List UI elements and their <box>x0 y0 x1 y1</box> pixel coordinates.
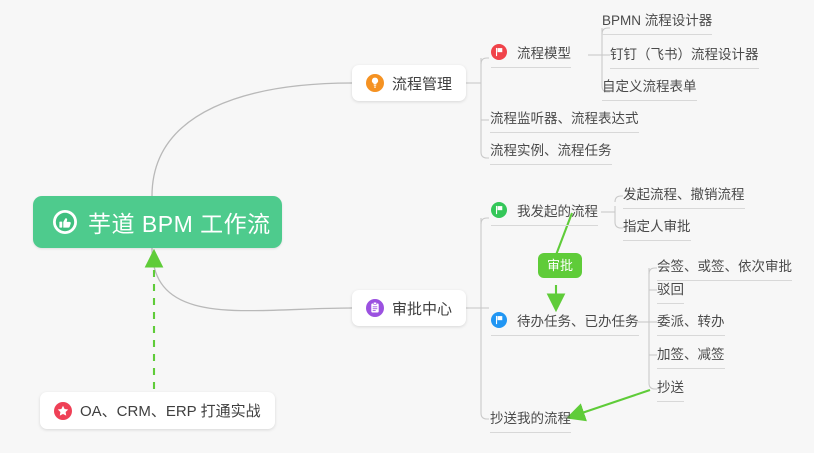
flag-icon-red <box>491 44 509 62</box>
branch-approval-center-label: 审批中心 <box>392 298 452 319</box>
root-node[interactable]: 芋道 BPM 工作流 <box>33 196 282 248</box>
edge-ac-bracket-upper <box>481 218 489 224</box>
branch-process-management-label: 流程管理 <box>392 73 452 94</box>
leaf-add-remove-sign[interactable]: 加签、减签 <box>657 346 725 369</box>
node-todo-done-tasks-label: 待办任务、已办任务 <box>517 313 639 330</box>
lightbulb-icon <box>366 74 384 92</box>
thumbs-up-icon <box>53 210 77 234</box>
leaf-delegate-transfer[interactable]: 委派、转办 <box>657 313 725 336</box>
node-process-model-label: 流程模型 <box>517 45 571 62</box>
callout-node-label: OA、CRM、ERP 打通实战 <box>80 400 261 421</box>
leaf-countersign-orsign-sequential[interactable]: 会签、或签、依次审批 <box>657 258 792 281</box>
annotation-approve-chip: 审批 <box>538 253 582 278</box>
callout-node[interactable]: OA、CRM、ERP 打通实战 <box>40 392 275 429</box>
node-process-model[interactable]: 流程模型 <box>491 44 571 68</box>
node-my-initiated-flows-label: 我发起的流程 <box>517 203 598 220</box>
edge-ac-bracket-lower <box>481 218 489 419</box>
leaf-dingtalk-designer[interactable]: 钉钉（飞书）流程设计器 <box>610 46 759 69</box>
leaf-reject[interactable]: 驳回 <box>657 281 684 304</box>
arrow-cc-to-my-cc-flows <box>570 390 650 417</box>
star-icon <box>54 402 72 420</box>
edge-root-to-approval-center <box>152 248 352 311</box>
mindmap-canvas: 芋道 BPM 工作流 OA、CRM、ERP 打通实战 流程管理 <box>0 0 814 453</box>
leaf-process-listener-expression[interactable]: 流程监听器、流程表达式 <box>490 110 639 133</box>
edge-todo-bracket-upper <box>649 268 657 274</box>
leaf-assignee-approval[interactable]: 指定人审批 <box>623 218 691 241</box>
root-node-label: 芋道 BPM 工作流 <box>88 205 271 239</box>
flag-icon-green <box>491 202 509 220</box>
edge-todo-bracket-lower <box>649 268 657 389</box>
edge-pm-bracket-upper <box>481 58 489 64</box>
leaf-cc[interactable]: 抄送 <box>657 379 684 402</box>
branch-process-management[interactable]: 流程管理 <box>352 65 466 101</box>
edge-root-to-process-management <box>152 83 352 196</box>
edge-mine-bracket-upper <box>615 196 623 202</box>
flag-icon-blue <box>491 312 509 330</box>
node-todo-done-tasks[interactable]: 待办任务、已办任务 <box>491 312 639 336</box>
edge-pm-bracket-lower <box>481 58 489 158</box>
leaf-start-cancel-flow[interactable]: 发起流程、撤销流程 <box>623 186 745 209</box>
leaf-process-instance-task[interactable]: 流程实例、流程任务 <box>490 142 612 165</box>
edge-mine-bracket-lower <box>615 206 623 228</box>
clipboard-icon <box>366 299 384 317</box>
branch-approval-center[interactable]: 审批中心 <box>352 290 466 326</box>
leaf-cc-to-me-flows[interactable]: 抄送我的流程 <box>490 410 571 433</box>
leaf-custom-form[interactable]: 自定义流程表单 <box>602 78 697 101</box>
leaf-bpmn-designer[interactable]: BPMN 流程设计器 <box>602 12 712 35</box>
node-my-initiated-flows[interactable]: 我发起的流程 <box>491 202 598 226</box>
